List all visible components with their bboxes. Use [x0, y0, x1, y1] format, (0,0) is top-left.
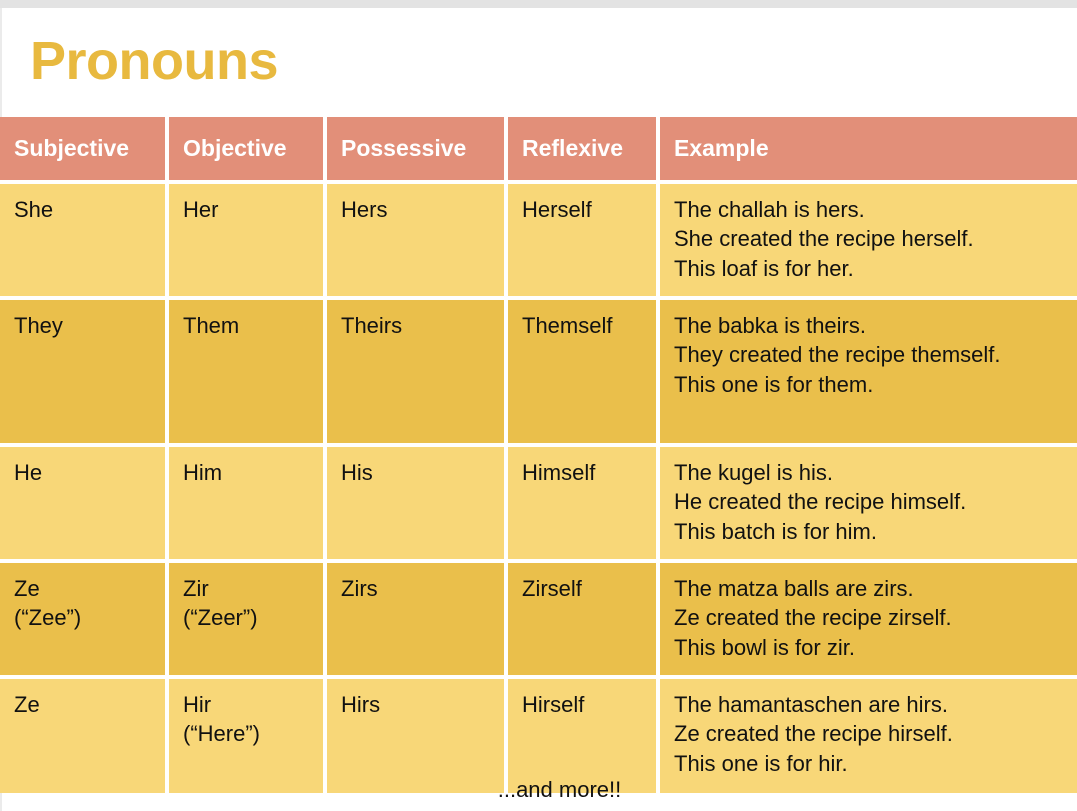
footer-note-text: ...and more!!	[456, 777, 622, 803]
column-header-subjective: Subjective	[0, 117, 165, 180]
cell-possessive: Hirs	[323, 679, 504, 793]
cell-subjective: She	[0, 184, 165, 296]
cell-reflexive: Hirself	[504, 679, 656, 793]
cell-reflexive: Themself	[504, 300, 656, 443]
table-header-row: Subjective Objective Possessive Reflexiv…	[0, 117, 1077, 180]
cell-subjective: Ze(“Zee”)	[0, 563, 165, 675]
cell-example: The hamantaschen are hirs.Ze created the…	[656, 679, 1077, 793]
pronouns-table: Subjective Objective Possessive Reflexiv…	[0, 117, 1077, 793]
column-header-objective: Objective	[165, 117, 323, 180]
page-title: Pronouns	[30, 34, 278, 88]
column-header-example: Example	[656, 117, 1077, 180]
cell-reflexive: Zirself	[504, 563, 656, 675]
cell-subjective: They	[0, 300, 165, 443]
table-row: They Them Theirs Themself The babka is t…	[0, 296, 1077, 443]
column-header-possessive: Possessive	[323, 117, 504, 180]
cell-possessive: Hers	[323, 184, 504, 296]
table-row: She Her Hers Herself The challah is hers…	[0, 180, 1077, 296]
slide-canvas: Pronouns Subjective Objective Possessive…	[0, 0, 1077, 811]
cell-possessive: Zirs	[323, 563, 504, 675]
cell-example: The babka is theirs.They created the rec…	[656, 300, 1077, 443]
cell-objective: Hir(“Here”)	[165, 679, 323, 793]
top-edge-strip	[0, 0, 1077, 8]
cell-subjective: He	[0, 447, 165, 559]
cell-example: The matza balls are zirs.Ze created the …	[656, 563, 1077, 675]
table-row: Ze Hir(“Here”) Hirs Hirself The hamantas…	[0, 675, 1077, 793]
column-header-reflexive: Reflexive	[504, 117, 656, 180]
cell-example: The kugel is his.He created the recipe h…	[656, 447, 1077, 559]
table-row: Ze(“Zee”) Zir(“Zeer”) Zirs Zirself The m…	[0, 559, 1077, 675]
cell-possessive: Theirs	[323, 300, 504, 443]
cell-possessive: His	[323, 447, 504, 559]
cell-objective: Her	[165, 184, 323, 296]
cell-objective: Zir(“Zeer”)	[165, 563, 323, 675]
footer-note: ...and more!!	[0, 777, 1077, 803]
cell-example: The challah is hers.She created the reci…	[656, 184, 1077, 296]
table-row: He Him His Himself The kugel is his.He c…	[0, 443, 1077, 559]
cell-subjective: Ze	[0, 679, 165, 793]
cell-reflexive: Himself	[504, 447, 656, 559]
cell-objective: Him	[165, 447, 323, 559]
cell-reflexive: Herself	[504, 184, 656, 296]
cell-objective: Them	[165, 300, 323, 443]
